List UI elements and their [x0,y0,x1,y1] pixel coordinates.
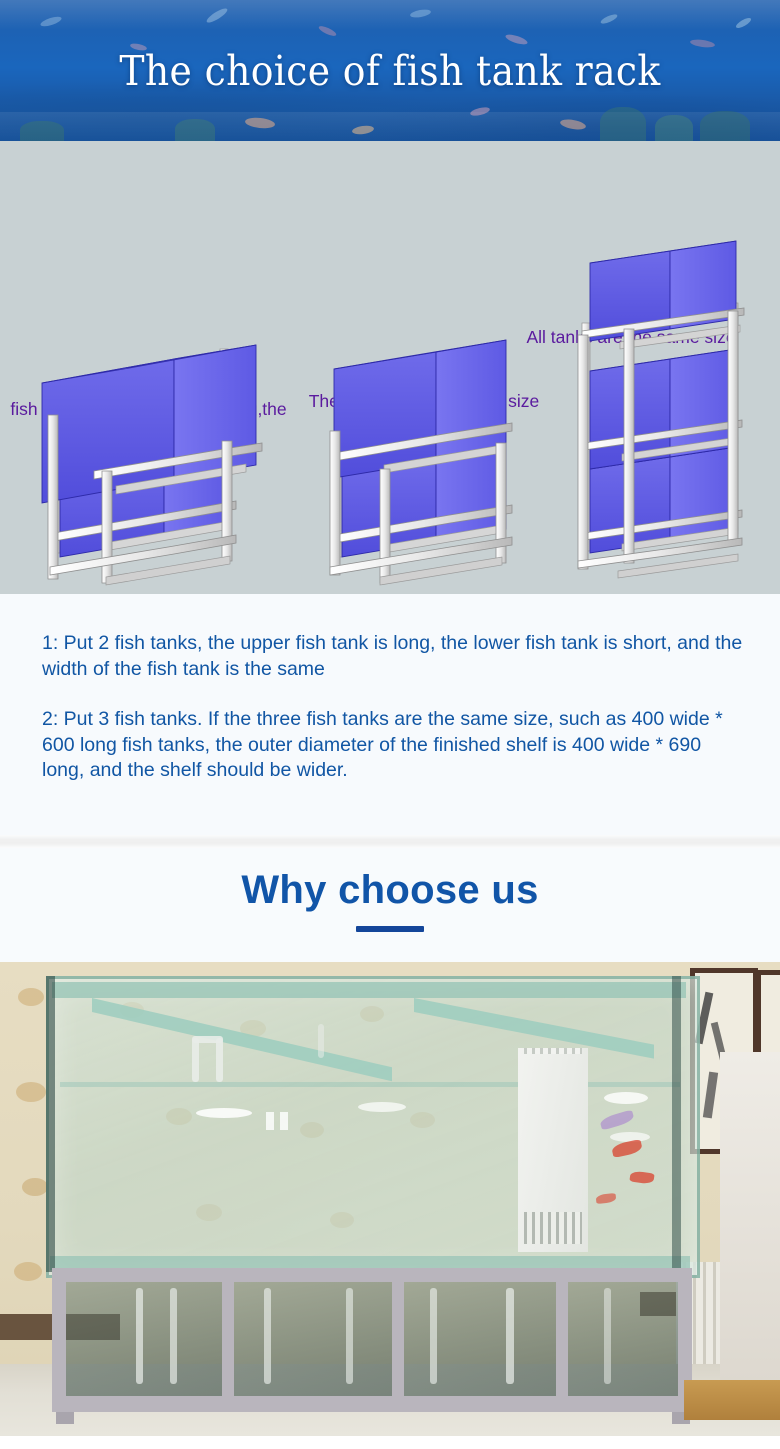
page-banner: The choice of fish tank rack [0,0,780,141]
stand-bay-pipe [170,1288,177,1384]
tank-light-reflection [266,1112,274,1130]
tank-inlet-pipe [192,1038,199,1082]
rack-two-tier-long-short [24,321,274,589]
tank-inlet-pipe [318,1024,324,1058]
stand-bay-pipe [136,1288,143,1384]
product-detail-page: The choice of fish tank rack fish tank, … [0,0,780,1449]
cardboard-box [684,1380,780,1420]
filter-box-vent-slots [524,1212,582,1244]
stand-glass-bay [234,1282,392,1396]
stand-bay-pipe [346,1288,353,1384]
tank-inlet-pipe [216,1038,223,1082]
stand-bay-pipe [264,1288,271,1384]
wallpaper-motif [18,988,44,1006]
tank-light-reflection [358,1102,406,1112]
stand-top-rail [52,1268,692,1282]
tank-left-edge [46,976,55,1272]
notes-section: 1: Put 2 fish tanks, the upper fish tank… [0,594,780,835]
wallpaper-motif [22,1178,48,1196]
note-paragraph-2: 2: Put 3 fish tanks. If the three fish t… [42,707,748,784]
stand-bay-pipe [430,1288,437,1384]
stand-divider-post [392,1272,404,1398]
tank-light-reflection [196,1108,252,1118]
stand-divider-post [556,1272,568,1398]
wallpaper-motif [16,1082,46,1102]
stand-glass-bay [404,1282,556,1396]
marble-slab [720,1052,780,1382]
section-divider [0,835,780,848]
stand-glass-bay [568,1282,678,1396]
tank-light-reflection [280,1112,288,1130]
rack-two-tier-equal [300,319,540,589]
stand-glass-bay [66,1282,222,1396]
wallpaper-motif [14,1262,42,1281]
stand-bay-pipe [506,1288,514,1384]
why-choose-us-heading: Why choose us [0,868,780,913]
stand-left-post [52,1268,66,1412]
tank-light-reflection [604,1092,648,1104]
tank-right-edge [672,976,681,1272]
heading-accent-bar [356,926,424,932]
page-title: The choice of fish tank rack [31,0,749,141]
product-photo [0,962,780,1436]
tank-inlet-pipe [192,1036,223,1043]
note-paragraph-1: 1: Put 2 fish tanks, the upper fish tank… [42,631,748,682]
rack-three-tier-equal [560,211,770,583]
diagram-section: fish tank, the upper layer is long,the l… [0,141,780,594]
why-choose-us-section: Why choose us [0,848,780,962]
filter-box-top-slots [524,1048,582,1054]
stand-bay-pipe [604,1288,611,1384]
stand-foot [56,1412,74,1424]
stand-bottom-rail [52,1396,692,1412]
stand-divider-post [222,1272,234,1398]
tank-top-rim [52,982,686,998]
